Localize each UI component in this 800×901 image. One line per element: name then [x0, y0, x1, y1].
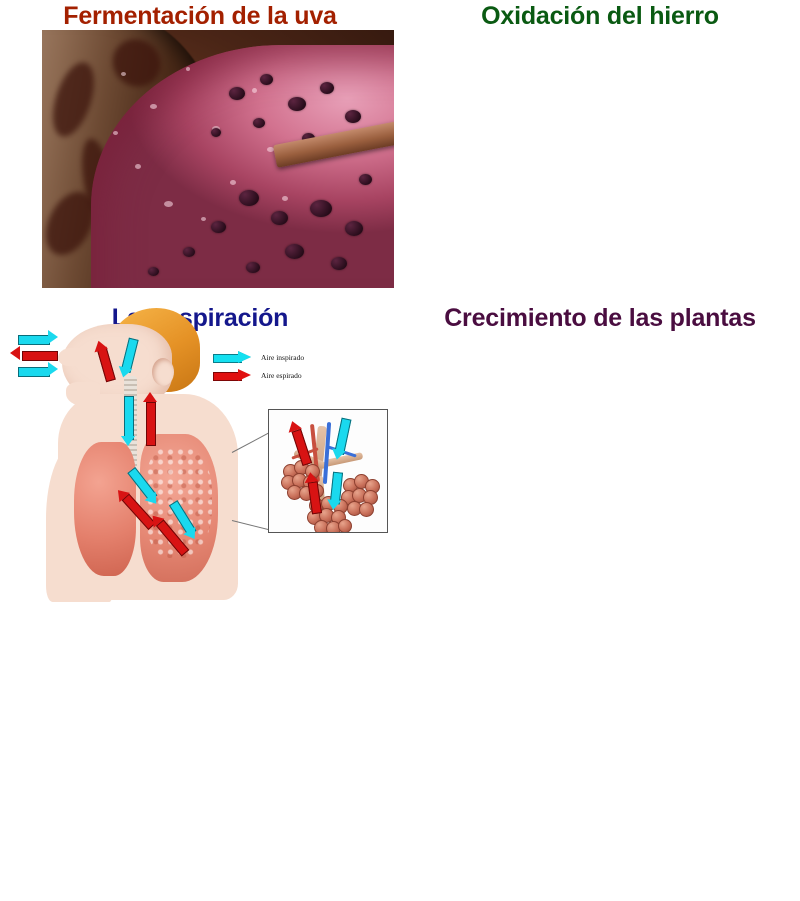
- legend-label-inspirado: Aire inspirado: [261, 353, 304, 362]
- legend-item-espirado: Aire espirado: [213, 366, 343, 384]
- panel-crecimiento: Crecimiento de las plantas: [400, 302, 800, 604]
- cyan-arrow-inhale: [18, 364, 64, 378]
- red-arrow-icon: [213, 369, 255, 382]
- cyan-arrow-inhale: [18, 332, 64, 346]
- red-arrow-exhale: [285, 419, 314, 466]
- legend-label-espirado: Aire espirado: [261, 371, 302, 380]
- panel-title-fermentacion: Fermentación de la uva: [0, 0, 400, 31]
- red-arrow-exhale: [142, 392, 158, 444]
- cyan-arrow-inhale: [120, 396, 136, 448]
- alveoli-inset: [268, 409, 388, 533]
- panel-title-oxidacion: Oxidación del hierro: [400, 0, 800, 31]
- panel-fermentacion: Fermentación de la uva: [0, 0, 400, 302]
- ear: [152, 358, 174, 386]
- cyan-arrow-icon: [213, 351, 255, 364]
- respiration-legend: Aire inspirado Aire espirado: [213, 348, 343, 384]
- red-arrow-exhale: [8, 348, 64, 362]
- panel-oxidacion: Oxidación del hierro: [400, 0, 800, 302]
- panel-title-crecimiento: Crecimiento de las plantas: [400, 302, 800, 333]
- grape-fermentation-photo: [42, 30, 394, 288]
- legend-item-inspirado: Aire inspirado: [213, 348, 343, 366]
